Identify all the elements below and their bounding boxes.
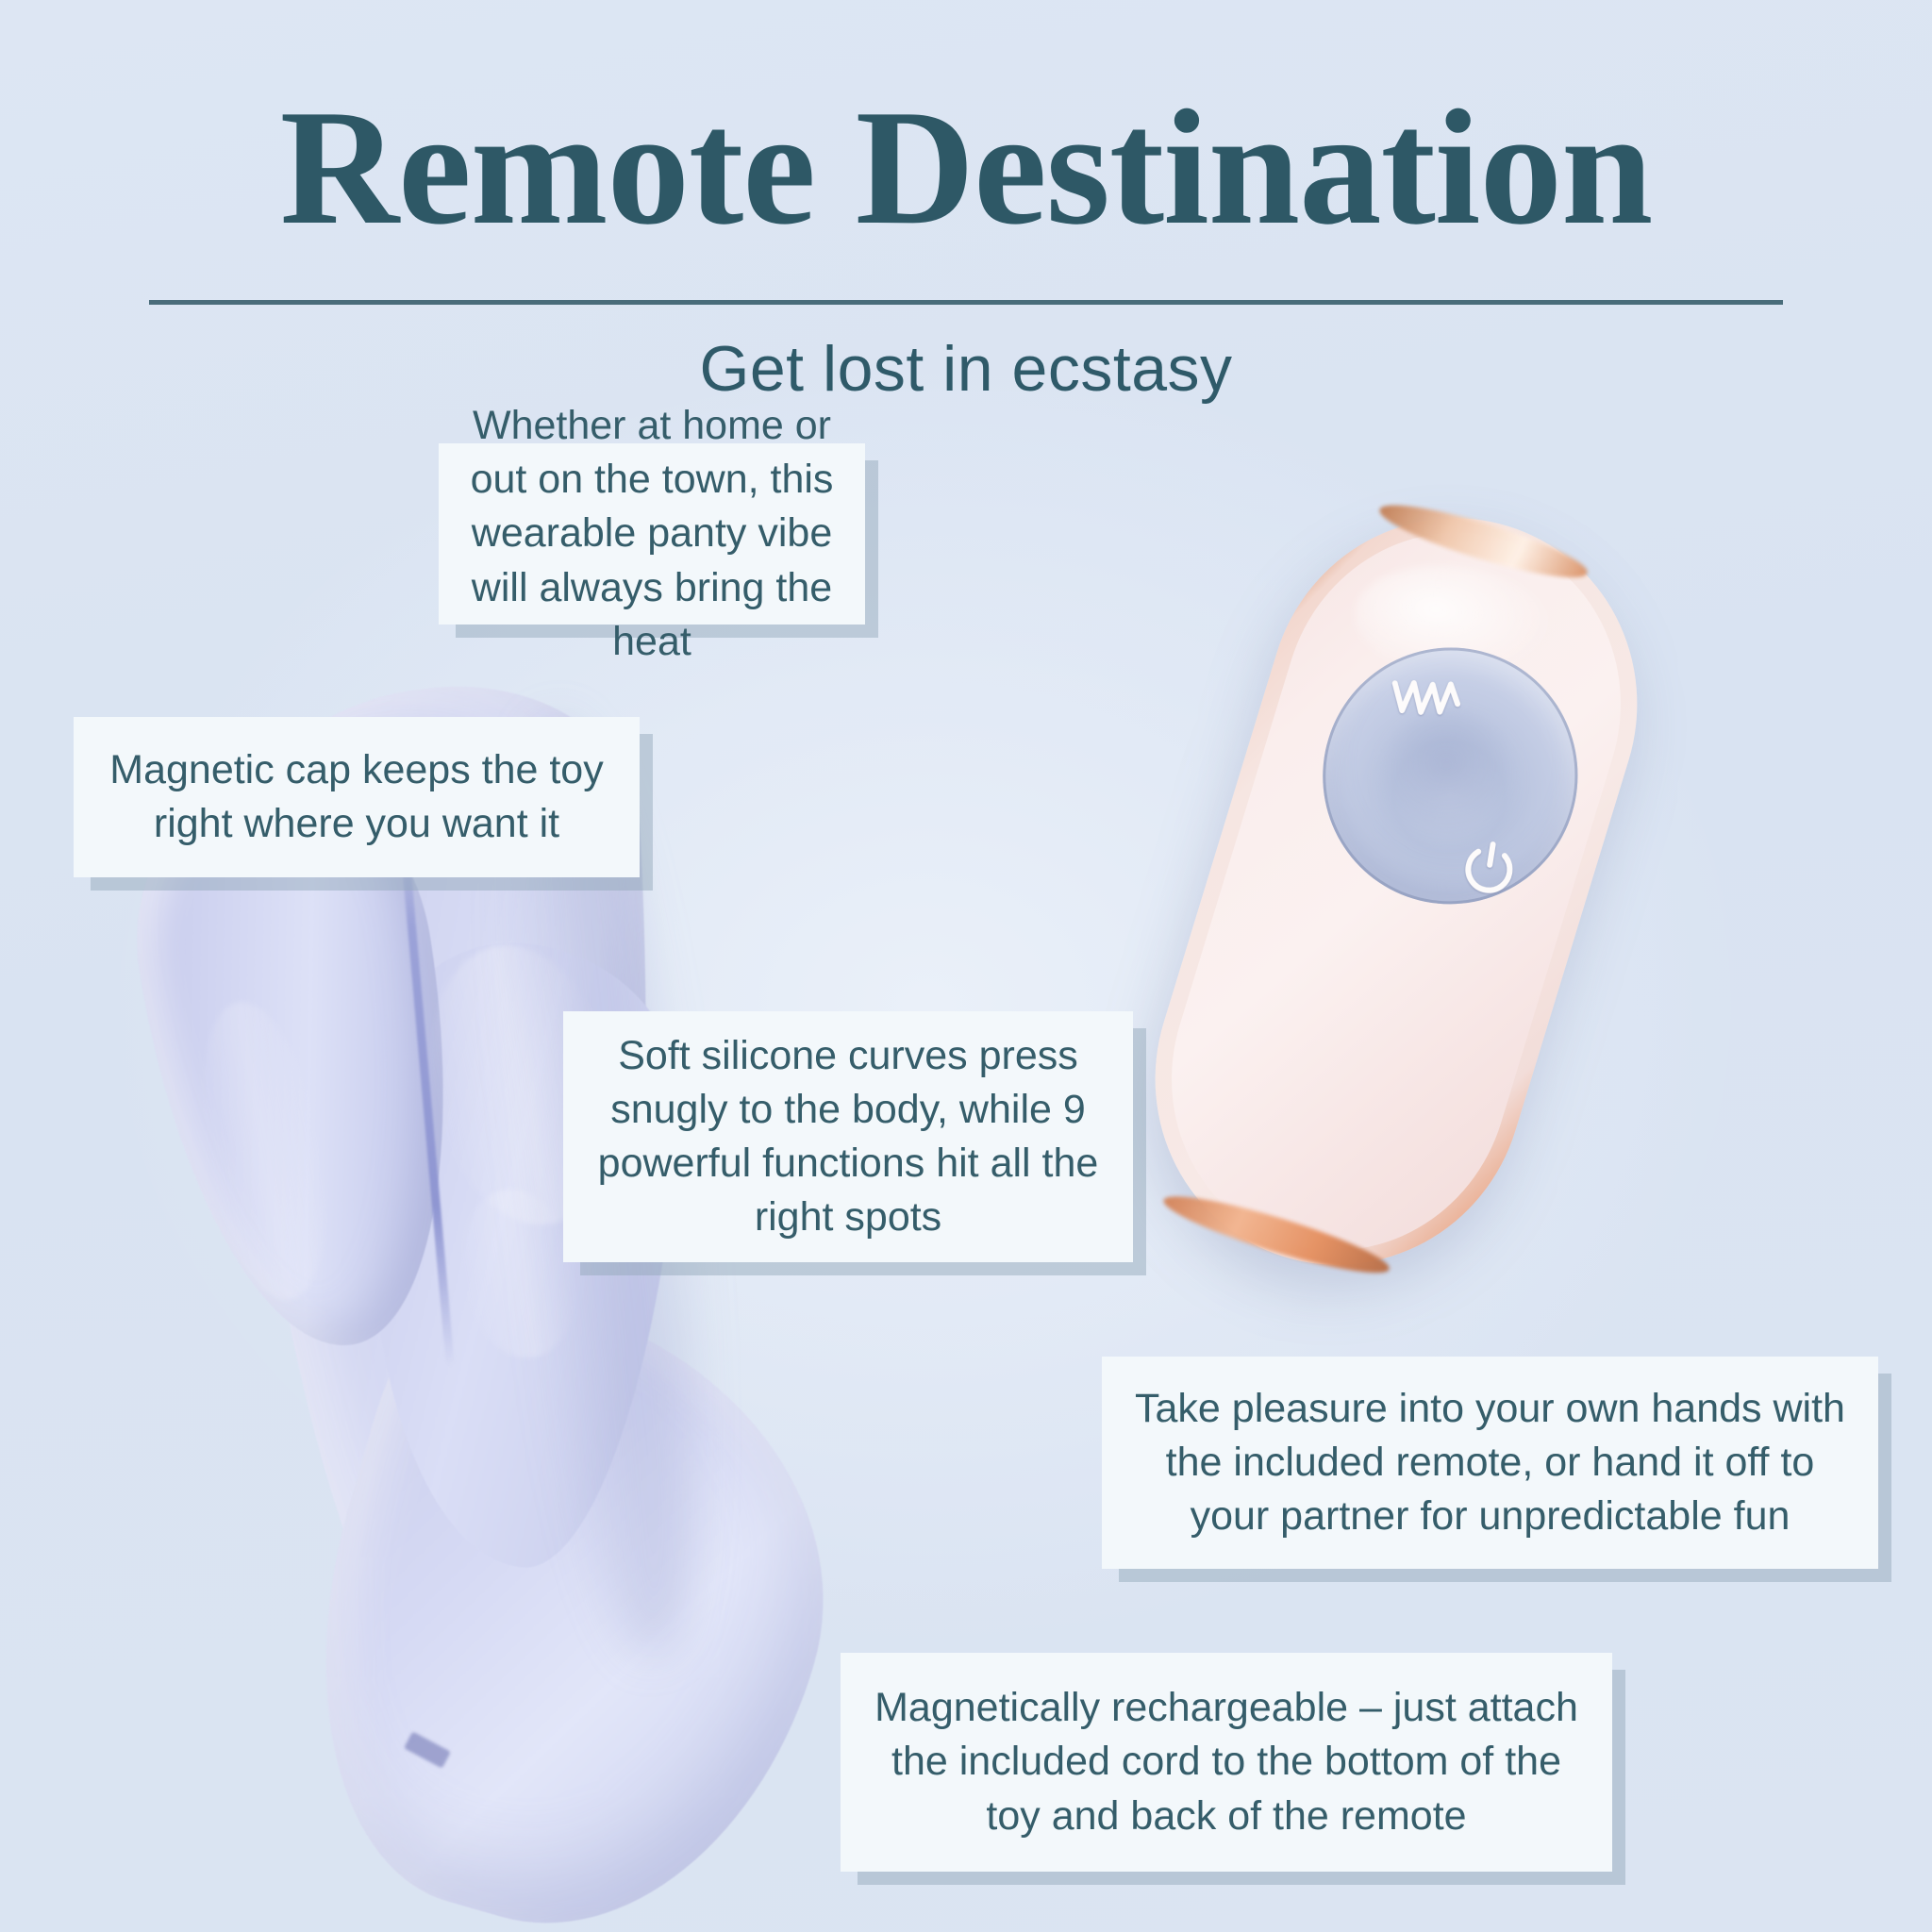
callout-text: Magnetic cap keeps the toy right where y… — [98, 743, 615, 851]
vibe-bottom-marking — [404, 1731, 451, 1768]
remote-product-image — [1085, 491, 1840, 1358]
callout-text: Take pleasure into your own hands with t… — [1126, 1382, 1854, 1544]
mode-wave-icon — [1389, 674, 1464, 721]
callout-text: Soft silicone curves press snugly to the… — [588, 1029, 1108, 1245]
remote-button-dimple — [1360, 692, 1537, 869]
callout-box-recharging: Magnetically rechargeable – just attach … — [841, 1653, 1612, 1872]
page-title: Remote Destination — [0, 83, 1932, 252]
page-subtitle: Get lost in ecstasy — [0, 332, 1932, 406]
remote-top-trim — [1374, 492, 1592, 591]
remote-shell — [1108, 473, 1684, 1311]
title-divider — [149, 300, 1783, 305]
infographic-canvas: Remote Destination Get lost in ecstasy — [0, 0, 1932, 1932]
remote-control-button[interactable] — [1291, 616, 1609, 936]
remote-face-panel — [1128, 491, 1664, 1292]
callout-box-remote-control: Take pleasure into your own hands with t… — [1102, 1357, 1878, 1569]
vibe-cap-seam — [399, 831, 455, 1368]
callout-text: Magnetically rechargeable – just attach … — [865, 1681, 1588, 1843]
callout-box-wearable: Whether at home or out on the town, this… — [439, 443, 865, 625]
callout-box-magnetic-cap: Magnetic cap keeps the toy right where y… — [74, 717, 640, 877]
remote-bottom-trim — [1158, 1184, 1394, 1286]
callout-box-silicone-functions: Soft silicone curves press snugly to the… — [563, 1011, 1133, 1262]
vibe-tapered-tail — [252, 1265, 890, 1932]
power-icon — [1456, 834, 1523, 901]
remote-gloss-highlight — [1348, 555, 1558, 691]
callout-text: Whether at home or out on the town, this… — [463, 399, 841, 669]
vibe-highlight-ridge — [182, 992, 346, 1309]
